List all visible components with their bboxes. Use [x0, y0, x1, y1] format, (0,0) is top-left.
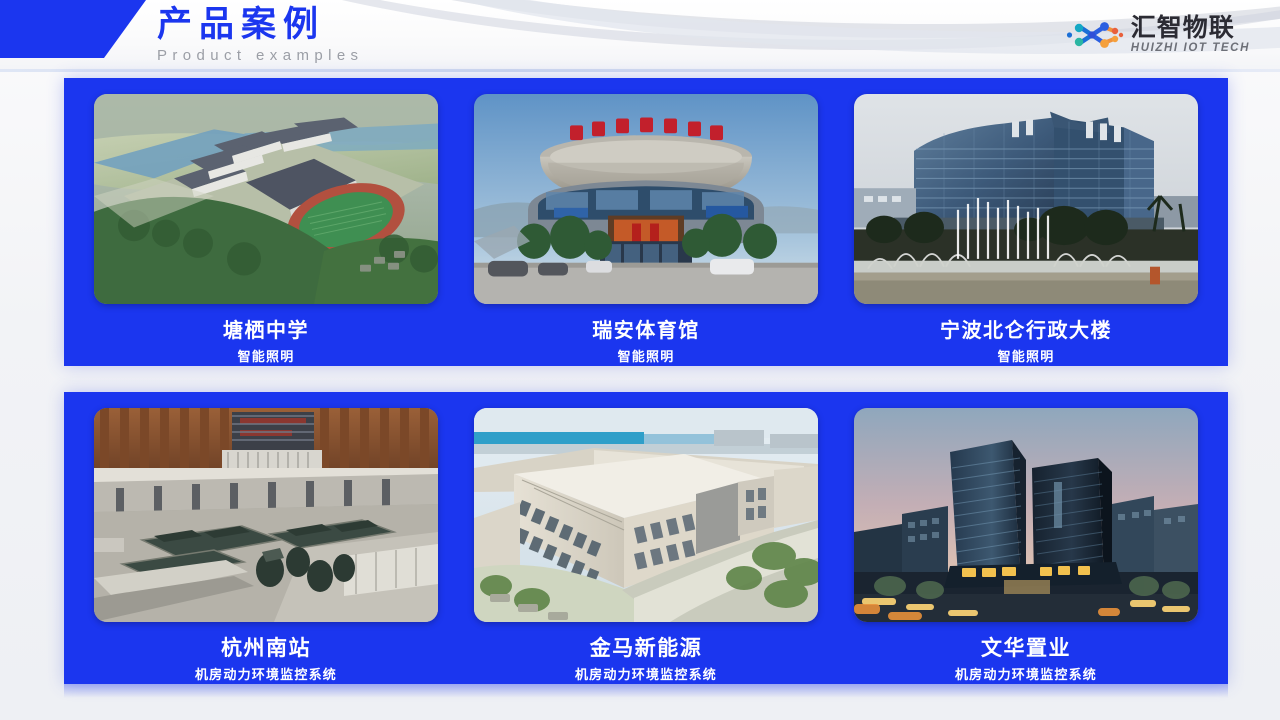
product-card[interactable]: 塘栖中学 智能照明 [94, 94, 438, 366]
product-card-title: 宁波北仑行政大楼 [940, 318, 1112, 342]
product-card-title: 瑞安体育馆 [592, 318, 700, 342]
huizhi-molecule-logo-icon [1066, 17, 1124, 53]
product-card-subtitle: 智能照明 [998, 349, 1055, 366]
product-card-title: 杭州南站 [221, 636, 311, 660]
product-card-title: 金马新能源 [590, 636, 703, 660]
government-office-tower-fountain-photo [854, 94, 1198, 304]
brand-logo: 汇智物联 HUIZHI IOT TECH [1066, 14, 1250, 56]
header-blue-parallelogram-icon [0, 0, 146, 58]
oval-stadium-building-photo [474, 94, 818, 304]
product-card-subtitle: 智能照明 [238, 349, 295, 366]
product-card-subtitle: 机房动力环境监控系统 [575, 667, 717, 684]
aerial-school-campus-photo [94, 94, 438, 304]
city-twin-towers-dusk-photo [854, 408, 1198, 622]
railway-station-interior-photo [94, 408, 438, 622]
product-card-title: 塘栖中学 [223, 318, 309, 342]
brand-name-en: HUIZHI IOT TECH [1131, 41, 1250, 56]
header-underline-divider [0, 69, 1280, 72]
product-panel-row-1: 塘栖中学 智能照明 [64, 78, 1228, 366]
product-card[interactable]: 瑞安体育馆 智能照明 [474, 94, 818, 366]
brand-logo-text: 汇智物联 HUIZHI IOT TECH [1131, 14, 1250, 56]
brand-name-cn: 汇智物联 [1131, 14, 1250, 41]
product-examples-slide: 产品案例 Product examples 汇智物联 HUIZHI IOT [0, 0, 1280, 720]
product-card-subtitle: 智能照明 [618, 349, 675, 366]
product-card-title: 文华置业 [981, 636, 1071, 660]
industrial-factory-campus-photo [474, 408, 818, 622]
page-title-en: Product examples [157, 46, 363, 65]
product-panel-row-2: 杭州南站 机房动力环境监控系统 [64, 392, 1228, 684]
product-card-subtitle: 机房动力环境监控系统 [955, 667, 1097, 684]
page-title: 产品案例 Product examples [157, 4, 363, 65]
product-card-subtitle: 机房动力环境监控系统 [195, 667, 337, 684]
product-card[interactable]: 金马新能源 机房动力环境监控系统 [474, 408, 818, 684]
product-card[interactable]: 文华置业 机房动力环境监控系统 [854, 408, 1198, 684]
slide-header: 产品案例 Product examples 汇智物联 HUIZHI IOT [0, 0, 1280, 72]
page-title-cn: 产品案例 [157, 4, 363, 46]
product-card[interactable]: 杭州南站 机房动力环境监控系统 [94, 408, 438, 684]
product-card[interactable]: 宁波北仑行政大楼 智能照明 [854, 94, 1198, 366]
